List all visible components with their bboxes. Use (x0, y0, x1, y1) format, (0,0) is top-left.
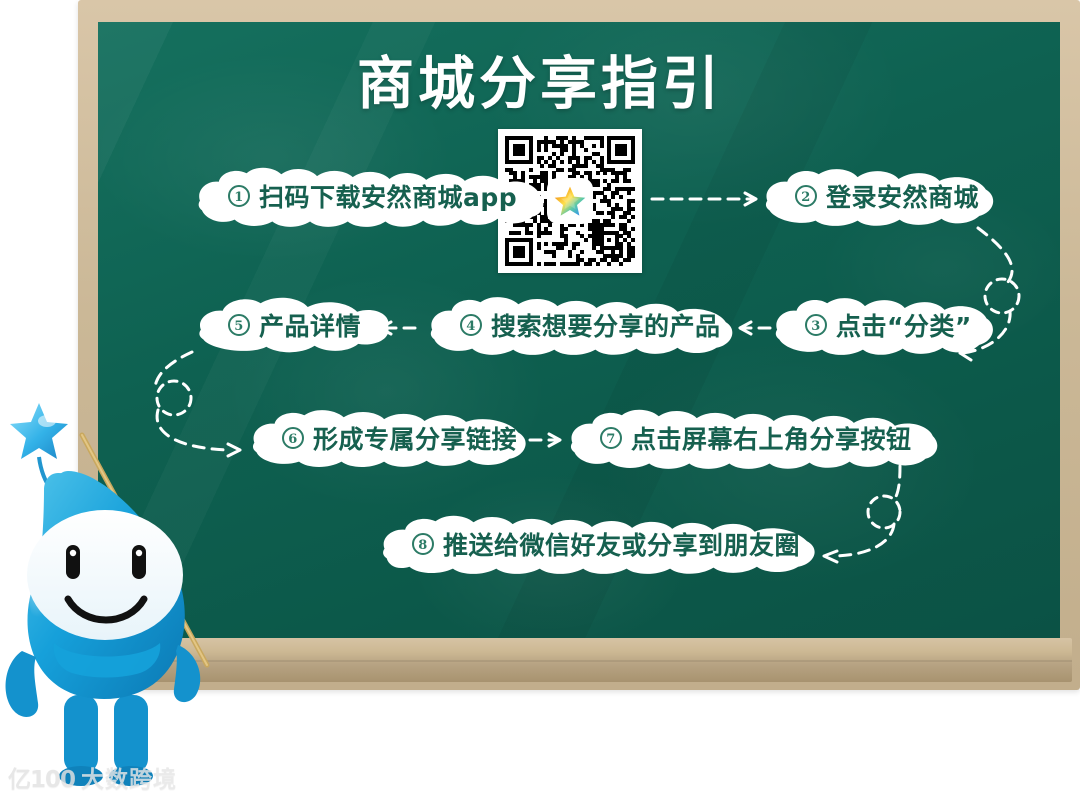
water-drop-mascot (0, 395, 232, 795)
step-2-label[interactable]: 2 登录安然商城 (775, 173, 999, 219)
step-number: 2 (795, 185, 817, 207)
step-text: 登录安然商城 (826, 178, 979, 214)
poster-canvas: 商城分享指引 (0, 0, 1080, 798)
step-number: 8 (412, 533, 434, 555)
step-8-label[interactable]: 8 推送给微信好友或分享到朋友圈 (392, 521, 820, 567)
step-text: 产品详情 (259, 307, 361, 343)
step-3-label[interactable]: 3 点击“分类” (785, 302, 992, 348)
step-number: 6 (282, 427, 304, 449)
step-7-label[interactable]: 7 点击屏幕右上角分享按钮 (580, 415, 932, 461)
watermark: 亿100 大数跨境 (8, 760, 177, 794)
step-number: 5 (228, 314, 250, 336)
watermark-logo: 亿100 (8, 760, 75, 794)
step-number: 3 (805, 314, 827, 336)
step-4-label[interactable]: 4 搜索想要分享的产品 (440, 302, 741, 348)
step-number: 7 (600, 427, 622, 449)
rainbow-star-logo (549, 180, 591, 222)
step-1-label[interactable]: 1 扫码下载安然商城app (208, 173, 537, 219)
step-number: 4 (460, 314, 482, 336)
step-text: 扫码下载安然商城app (259, 178, 517, 214)
step-text: 推送给微信好友或分享到朋友圈 (443, 526, 800, 562)
step-text: 点击“分类” (836, 307, 972, 343)
watermark-text: 大数跨境 (81, 760, 177, 794)
step-number: 1 (228, 185, 250, 207)
step-5-label[interactable]: 5 产品详情 (208, 302, 381, 348)
step-6-label[interactable]: 6 形成专属分享链接 (262, 415, 537, 461)
step-text: 形成专属分享链接 (313, 420, 517, 456)
star-antenna (10, 403, 68, 459)
step-text: 点击屏幕右上角分享按钮 (631, 420, 912, 456)
step-text: 搜索想要分享的产品 (491, 307, 721, 343)
chalk-tray-ledge (86, 638, 1072, 682)
page-title: 商城分享指引 (0, 38, 1080, 120)
